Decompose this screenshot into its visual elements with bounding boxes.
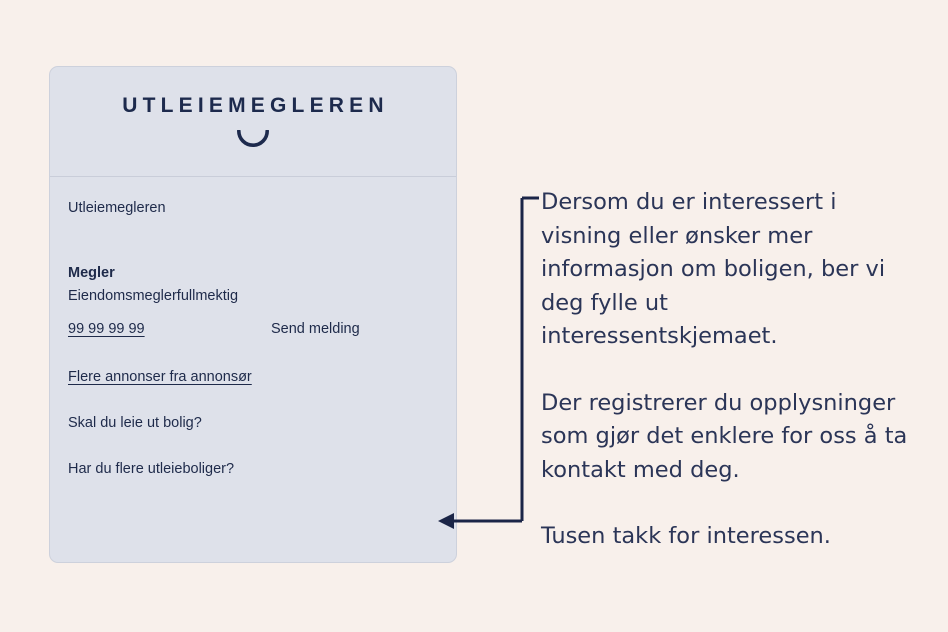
annotation-paragraph-2: Der registrerer du opplysninger som gjør… (541, 387, 911, 488)
annotation-paragraph-3: Tusen takk for interessen. (541, 520, 911, 554)
annotation-paragraph-1: Dersom du er interessert i visning eller… (541, 186, 911, 354)
broker-card: UTLEIEMEGLEREN Utleiemegleren Megler Eie… (49, 66, 457, 563)
broker-role-label: Megler (68, 264, 438, 283)
more-ads-from-advertiser-link[interactable]: Flere annonser fra annonsør (68, 368, 438, 387)
annotation-text-block: Dersom du er interessert i visning eller… (541, 186, 911, 554)
smile-arc-icon (236, 130, 270, 148)
rent-out-property-link[interactable]: Skal du leie ut bolig? (68, 414, 438, 433)
card-header: UTLEIEMEGLEREN (50, 67, 456, 177)
contact-row: 99 99 99 99 Send melding (68, 320, 438, 339)
broker-title: Eiendomsmeglerfullmektig (68, 287, 438, 306)
brand-logo-wordmark: UTLEIEMEGLEREN (117, 95, 388, 116)
agency-name: Utleiemegleren (68, 199, 438, 218)
card-body: Utleiemegleren Megler Eiendomsmeglerfull… (50, 177, 456, 479)
send-message-link[interactable]: Send melding (271, 320, 360, 339)
multiple-rentals-link[interactable]: Har du flere utleieboliger? (68, 460, 438, 479)
phone-number-link[interactable]: 99 99 99 99 (68, 320, 271, 339)
